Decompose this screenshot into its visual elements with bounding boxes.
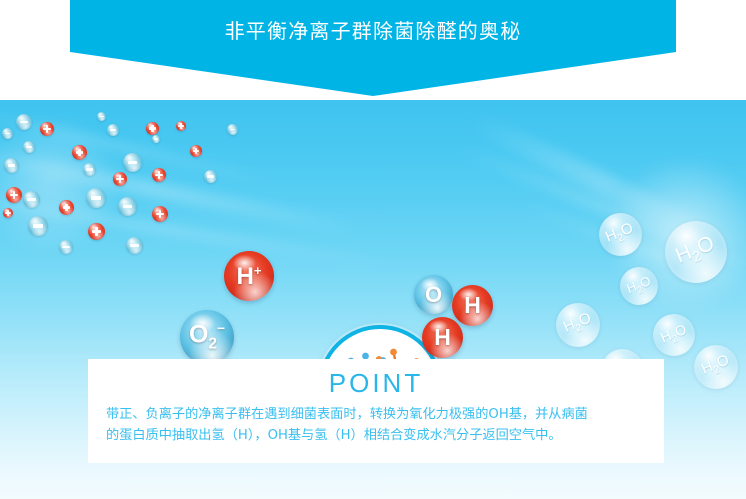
water-molecule-bubble: H2O [665,221,727,283]
oh-atom-o: O [414,275,453,314]
ion-cloud [0,100,250,280]
negative-ion-icon [59,240,73,254]
point-line-1: 带正、负离子的净离子群在遇到细菌表面时，转换为氧化力极强的OH基，并从病菌 [106,404,646,425]
positive-ion-icon [146,122,159,135]
negative-ion-icon [118,197,137,216]
positive-ion-icon [113,172,127,186]
negative-ion-icon [152,135,160,143]
negative-ion-icon [123,153,142,172]
positive-ion-icon [40,122,54,136]
water-molecule-bubble: H2O [653,314,695,356]
positive-ion-icon [190,145,202,157]
positive-ion-icon [6,187,22,203]
infographic-page: 非平衡净离子群除菌除醛的奥秘 H+O2− [0,0,746,499]
positive-ion-icon [59,200,74,215]
water-molecule-bubble: H2O [556,303,600,347]
negative-ion-icon [2,128,13,139]
positive-ion-icon [3,208,13,218]
negative-ion-icon [16,114,32,130]
point-line-2: 的蛋白质中抽取出氢（H），OH基与氢（H）相结合变成水汽分子返回空气中。 [106,425,646,446]
positive-ion-icon [152,206,168,222]
positive-ion-icon [88,223,105,240]
point-title: POINT [88,359,664,399]
positive-ion-icon [176,121,186,131]
point-callout-box: POINT 带正、负离子的净离子群在遇到细菌表面时，转换为氧化力极强的OH基，并… [88,359,664,463]
negative-ion-icon [97,112,106,121]
oh-atom-h: H [452,285,493,326]
negative-ion-icon [107,124,119,136]
positive-ion-icon [72,145,87,160]
water-molecule-bubble: H2O [620,267,658,305]
negative-ion-icon [204,170,217,183]
water-molecule-bubble: H2O [694,345,738,389]
negative-ion-icon [23,141,35,153]
point-body: 带正、负离子的净离子群在遇到细菌表面时，转换为氧化力极强的OH基，并从病菌 的蛋… [106,404,646,447]
negative-ion-icon [227,124,238,135]
ion-sphere-o: O2− [180,310,234,364]
negative-ion-icon [126,237,143,254]
negative-ion-icon [83,163,96,176]
positive-ion-icon [152,168,166,182]
negative-ion-icon [28,216,48,236]
negative-ion-icon [23,191,40,208]
oh-atom-h: H [422,317,463,358]
negative-ion-icon [4,158,19,173]
page-header: 非平衡净离子群除菌除醛的奥秘 [0,0,746,100]
negative-ion-icon [86,188,106,208]
water-molecule-bubble: H2O [599,213,642,256]
page-title: 非平衡净离子群除菌除醛的奥秘 [0,0,746,58]
ion-sphere-h: H+ [224,251,274,301]
